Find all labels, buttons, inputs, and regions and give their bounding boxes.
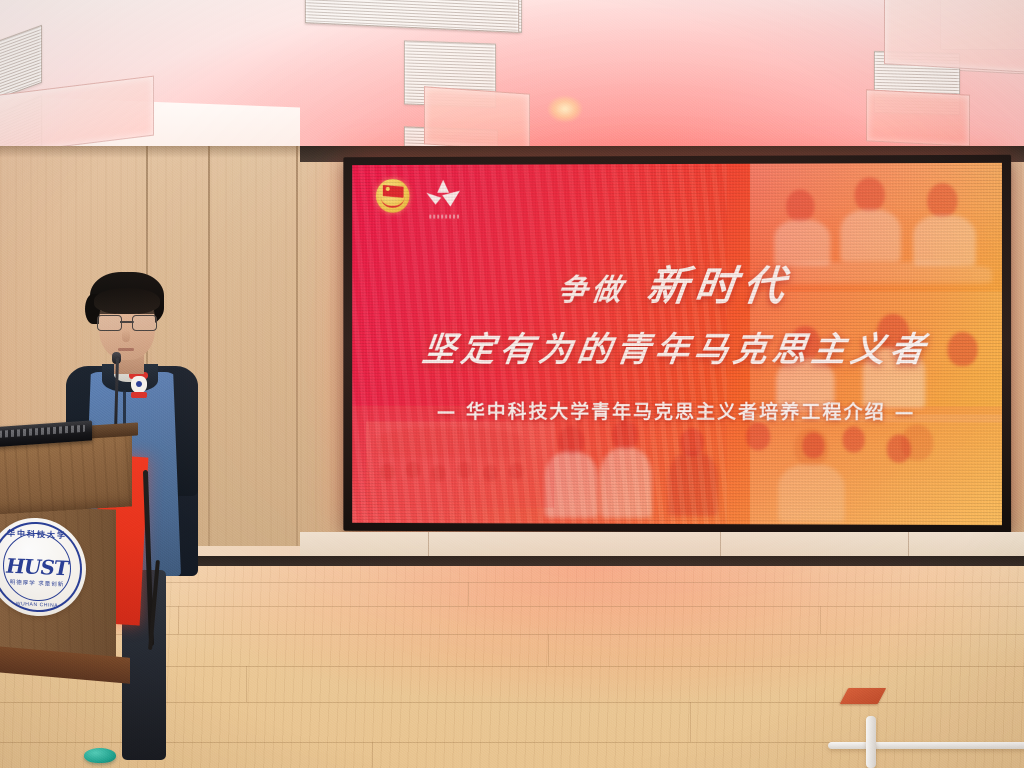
white-cable-conduit <box>828 742 1024 749</box>
slide-title-prefix: 争做 <box>555 273 627 308</box>
slide-photo-group-banner <box>366 422 554 508</box>
slide-logo-group <box>376 179 461 213</box>
white-cable-conduit-vertical <box>866 716 876 768</box>
wall-panel-seam <box>296 146 298 546</box>
star-mark-logo-icon <box>425 179 461 213</box>
speaker-glasses <box>97 315 157 330</box>
slide-title-line1: 争做 新时代 <box>352 251 1002 312</box>
podium: 华中科技大学 HUST 明德厚学 求是创新 WUHAN CHINA <box>0 432 152 680</box>
speaker-eyebrow-left <box>99 311 117 314</box>
wall-panel-seam <box>208 146 210 546</box>
led-display-screen[interactable]: 争做 新时代 坚定有为的青年马克思主义者 — 华中科技大学青年马克思主义者培养工… <box>343 155 1011 534</box>
communist-youth-league-emblem-icon <box>376 179 410 213</box>
jacket-emblem-patch <box>128 372 150 398</box>
slide-title-line2: 坚定有为的青年马克思主义者 <box>352 322 1002 371</box>
ceiling-spotlight <box>548 96 582 122</box>
ceiling-light-panel <box>424 86 530 151</box>
ceiling-light-panel <box>884 0 1024 76</box>
slide-title-main: 新时代 <box>644 262 794 310</box>
speaker-eyebrow-right <box>137 311 155 314</box>
lecture-hall-photo: 争做 新时代 坚定有为的青年马克思主义者 — 华中科技大学青年马克思主义者培养工… <box>0 0 1024 768</box>
teal-object <box>84 748 116 763</box>
led-screen-content: 争做 新时代 坚定有为的青年马克思主义者 — 华中科技大学青年马克思主义者培养工… <box>352 163 1002 525</box>
slide-subtitle: — 华中科技大学青年马克思主义者培养工程介绍 — <box>352 397 1002 425</box>
laptop-keyboard[interactable] <box>0 425 85 438</box>
seal-monogram: HUST <box>6 554 68 581</box>
ceiling-light-panel <box>866 89 970 146</box>
slide-text-block: 争做 新时代 坚定有为的青年马克思主义者 — 华中科技大学青年马克思主义者培养工… <box>352 251 1002 424</box>
speaker-mouth <box>118 348 134 351</box>
speaker-nose <box>122 330 130 342</box>
